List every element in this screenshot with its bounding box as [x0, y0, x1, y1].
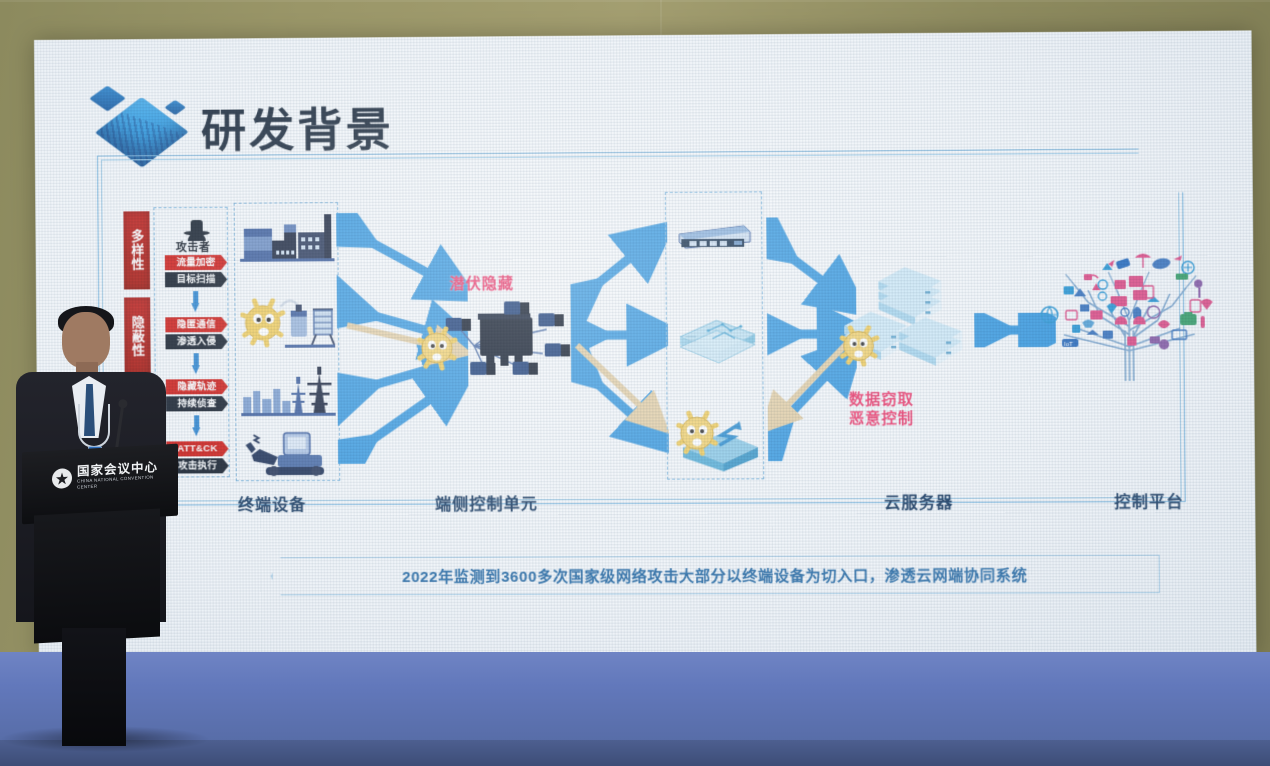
virus-network-layer-icon	[675, 409, 763, 472]
summary-banner: 2022年监测到3600多次国家级网络攻击大部分以终端设备为切入口，渗透云网端协…	[271, 555, 1160, 596]
podium-column	[62, 628, 126, 746]
podium: 国家会议中心 CHINA NATIONAL CONVENTION CENTER	[22, 448, 178, 746]
star-emblem-icon	[52, 468, 72, 489]
speaker-lanyard	[78, 404, 110, 448]
conference-photo-scene: 研发背景 多样性 隐蔽性 动态性 攻击者 流量加密 目标扫描 隐匿通信 渗透入侵	[0, 0, 1270, 766]
summary-banner-text: 2022年监测到3600多次国家级网络攻击大部分以终端设备为切入口，渗透云网端协…	[402, 564, 1028, 587]
page-title: 研发背景	[201, 93, 394, 160]
speaker-head	[62, 312, 110, 368]
network-layers-icon	[678, 314, 757, 367]
caption-cloud-server: 云服务器	[884, 489, 953, 513]
factory-icon	[240, 210, 335, 269]
caption-control-unit: 端侧控制单元	[435, 490, 538, 514]
attack-actor-label: 攻击者	[176, 239, 211, 255]
power-grid-icon	[241, 365, 336, 418]
network-switch-icon	[675, 222, 752, 253]
annotation-data-theft-line1: 数据窃取	[849, 390, 914, 409]
control-to-network-arrows	[570, 216, 669, 466]
caption-control-platform: 控制平台	[1114, 488, 1184, 512]
annotation-data-theft-line2: 恶意控制	[849, 409, 914, 428]
chain-step-1-dark: 目标扫描	[165, 272, 227, 287]
chain-step-1-red: 流量加密	[165, 255, 227, 270]
cloud-server-stack-icon	[834, 267, 967, 379]
svg-text:IoT: IoT	[1064, 342, 1073, 348]
wall-seam	[0, 0, 1270, 2]
led-screen: 研发背景 多样性 隐蔽性 动态性 攻击者 流量加密 目标扫描 隐匿通信 渗透入侵	[34, 30, 1256, 658]
annotation-data-theft: 数据窃取 恶意控制	[849, 390, 914, 429]
refinery-virus-icon	[240, 288, 335, 351]
caption-terminal-devices: 终端设备	[238, 491, 306, 515]
annotation-latent-hiding: 潜伏隐藏	[449, 274, 514, 293]
side-tag-diversity: 多样性	[123, 211, 150, 289]
spy-hat-icon	[184, 215, 210, 235]
excavator-icon	[243, 427, 332, 477]
presentation-slide: 研发背景 多样性 隐蔽性 动态性 攻击者 流量加密 目标扫描 隐匿通信 渗透入侵	[34, 30, 1256, 658]
virus-icon	[420, 329, 456, 368]
podium-front-panel	[34, 508, 160, 643]
iot-icon-tree-icon: IoT	[1027, 249, 1232, 383]
wall-seam	[660, 0, 662, 40]
